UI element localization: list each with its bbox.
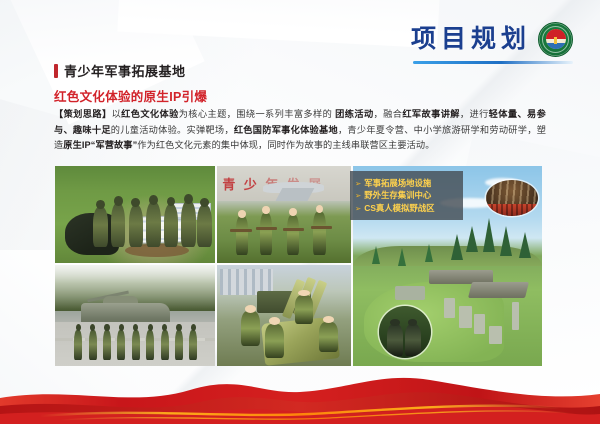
- paragraph-text: 作为红色文化元素的集中体现，同时作为故事的主线串联营区主要活动。: [137, 140, 434, 150]
- photo-kids-artillery: [217, 265, 351, 366]
- paragraph-emphasis: 红色国防军事化体验基地: [234, 125, 338, 135]
- section-heading-label: 青少年军事拓展基地: [64, 61, 186, 80]
- paragraph-emphasis: 红军故事讲解: [402, 109, 460, 119]
- inset-photo-cs-field: [379, 306, 431, 358]
- slide-canvas: 项目规划 青少年军事拓展基地 红色文化体验的原生IP引爆 【策划思路】以红色文化…: [0, 0, 600, 424]
- background-facet: [117, 0, 442, 48]
- body-paragraph: 【策划思路】以红色文化体验为核心主题，围绕一系列丰富多样的 团练活动，融合红军故…: [54, 107, 546, 154]
- slide-header: 项目规划: [411, 22, 573, 64]
- page-title: 项目规划: [411, 27, 531, 52]
- chevron-right-icon: ➢: [355, 203, 361, 214]
- chevron-right-icon: ➢: [355, 190, 361, 201]
- photo-column-middle: 青 少 年 发 展: [217, 166, 351, 366]
- photo-tank-march: [55, 265, 215, 366]
- organization-emblem-icon: [538, 22, 573, 57]
- paragraph-emphasis: 原生IP“军营故事”: [63, 140, 137, 150]
- emblem-blue-band: [546, 43, 566, 49]
- paragraph-emphasis: 红色文化体验: [121, 109, 179, 119]
- paragraph-text: ，进行: [460, 109, 489, 119]
- title-underline: [413, 61, 573, 64]
- emblem-inner: [546, 29, 566, 49]
- paragraph-text: 的儿童活动体验。实弹靶场，: [111, 125, 234, 135]
- section-subheading: 红色文化体验的原生IP引爆: [54, 86, 207, 105]
- chevron-right-icon: ➢: [355, 178, 361, 189]
- paragraph-emphasis: 团练活动: [335, 109, 373, 119]
- emblem-gold-mark: [554, 37, 558, 44]
- section-heading: 青少年军事拓展基地: [54, 61, 186, 80]
- feature-item: ➢ 野外生存集训中心: [355, 190, 457, 201]
- feature-label: 野外生存集训中心: [364, 190, 431, 201]
- photo-column-left: [55, 166, 215, 366]
- photo-bedding-drill: [55, 166, 215, 263]
- photo-grid: 青 少 年 发 展: [55, 166, 542, 366]
- inset-photo-assembly-hall: [486, 180, 538, 216]
- feature-item: ➢ 军事拓展场地设施: [355, 178, 457, 189]
- red-silk-ribbon: [0, 368, 600, 424]
- heading-accent-bar: [54, 64, 58, 78]
- paragraph-text: 以: [112, 109, 122, 119]
- feature-label: 军事拓展场地设施: [364, 178, 431, 189]
- paragraph-emphasis: 【策划思路】: [54, 109, 112, 119]
- paragraph-text: 为核心主题，围绕一系列丰富多样的: [179, 109, 335, 119]
- feature-item: ➢ CS真人模拟野战区: [355, 203, 457, 214]
- title-row: 项目规划: [411, 22, 573, 57]
- feature-label: CS真人模拟野战区: [364, 203, 434, 214]
- paragraph-text: ，融合: [374, 109, 403, 119]
- feature-callout-box: ➢ 军事拓展场地设施 ➢ 野外生存集训中心 ➢ CS真人模拟野战区: [350, 171, 463, 220]
- photo-kids-rifle-run: 青 少 年 发 展: [217, 166, 351, 263]
